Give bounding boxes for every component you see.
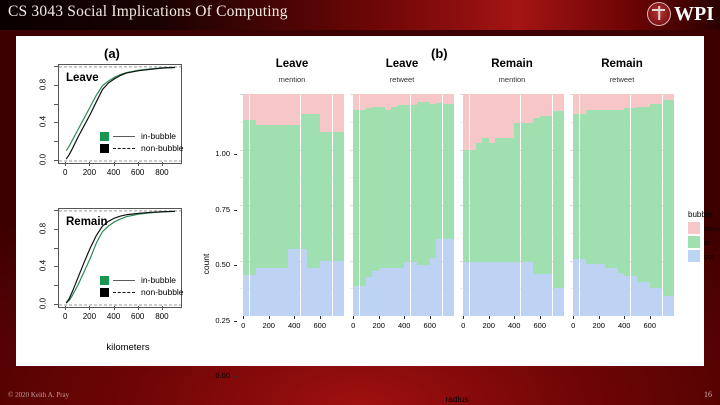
bar-segment-in — [423, 102, 429, 265]
bar-segment-out — [546, 274, 552, 316]
x-tick-mark — [269, 316, 270, 319]
footer-copyright: © 2020 Keith A. Pray — [8, 391, 69, 399]
non-bubble-line-icon — [113, 292, 135, 293]
stacked-bar — [463, 94, 469, 316]
bar-segment-cross — [385, 94, 391, 110]
legend-item-out: out — [688, 250, 720, 262]
bar-segment-cross — [417, 94, 423, 102]
y-tick-mark — [54, 304, 58, 305]
in-bubble-line-icon — [113, 136, 135, 137]
x-tick-label: 200 — [77, 312, 101, 321]
bar-segment-cross — [372, 94, 378, 107]
stacked-bar — [250, 94, 256, 316]
stacked-bar — [470, 94, 476, 316]
x-tick-label: 800 — [150, 312, 174, 321]
bar-segment-in — [624, 108, 630, 276]
bar-segment-out — [599, 264, 605, 316]
x-tick-mark — [89, 306, 90, 310]
ecdf-legend: in-bubble non-bubble — [100, 130, 184, 154]
slide-root: CS 3043 Social Implications Of Computing… — [0, 0, 720, 405]
bar-segment-in — [360, 110, 366, 286]
stacked-bar — [339, 94, 344, 316]
bar-segment-out — [495, 262, 501, 316]
bar-segment-in — [470, 150, 476, 262]
bar-segment-cross — [288, 94, 294, 125]
stacked-bar — [443, 94, 449, 316]
stacked-bar — [449, 94, 454, 316]
bar-segment-in — [313, 114, 319, 268]
bar-segment-out — [559, 288, 564, 316]
bar-segment-out — [463, 262, 469, 316]
x-tick-label: 400 — [282, 321, 306, 330]
stacked-bar — [366, 94, 372, 316]
legend-row-non-bubble: non-bubble — [100, 142, 184, 154]
slide-number: 16 — [704, 390, 712, 399]
bar-segment-in — [476, 143, 482, 262]
bar-segment-in — [250, 120, 256, 275]
bar-segment-out — [436, 239, 442, 316]
stacked-bar — [611, 94, 617, 316]
bar-segment-out — [573, 259, 579, 316]
bar-segment-out — [398, 268, 404, 316]
facet-title: Remain — [570, 58, 674, 70]
stacked-bar — [313, 94, 319, 316]
non-bubble-swatch — [100, 144, 109, 153]
y-tick-mark-minor — [54, 104, 58, 105]
bar-segment-cross — [294, 94, 300, 125]
bar-segment-in — [521, 123, 527, 262]
stacked-bar — [436, 94, 442, 316]
x-tick-label: 0 — [53, 312, 77, 321]
bar-segment-in — [333, 132, 339, 261]
facet-plot-area — [460, 94, 564, 316]
bar-segment-cross — [275, 94, 281, 125]
stacked-bar — [489, 94, 495, 316]
stacked-bar — [256, 94, 262, 316]
bar-segment-in — [398, 105, 404, 268]
stacked-bar — [540, 94, 546, 316]
ecdf-legend: in-bubble non-bubble — [100, 274, 184, 298]
figure-canvas: (a) Leave0.00.40.80200400600800 in-bubbl… — [16, 36, 704, 366]
x-tick-mark — [114, 306, 115, 310]
non-bubble-line-icon — [113, 148, 135, 149]
stacked-bar — [379, 94, 385, 316]
x-tick-label: 400 — [612, 321, 636, 330]
bar-segment-cross — [580, 94, 586, 114]
in-bubble-line-icon — [113, 280, 135, 281]
facet-remain-mention: Remainmention0200400600 — [460, 36, 564, 338]
legend-title: bubble — [688, 210, 720, 219]
bar-segment-cross — [320, 94, 326, 132]
stacked-bar — [353, 94, 359, 316]
stacked-bar — [417, 94, 423, 316]
bar-segment-cross — [656, 94, 662, 104]
legend-label-non-bubble: non-bubble — [141, 287, 184, 297]
bar-segment-in — [430, 104, 436, 258]
x-tick-label: 600 — [638, 321, 662, 330]
bar-segment-out — [508, 262, 514, 316]
legend-label-non-bubble: non-bubble — [141, 143, 184, 153]
bar-segment-cross — [624, 94, 630, 108]
bar-segment-out — [372, 271, 378, 317]
bar-segment-cross — [521, 94, 527, 123]
bar-segment-out — [592, 264, 598, 316]
bar-segment-out — [514, 262, 520, 316]
facet-title: Leave — [350, 58, 454, 70]
legend-row-in-bubble: in-bubble — [100, 130, 184, 142]
bar-segment-in — [404, 105, 410, 262]
bar-segment-in — [586, 110, 592, 264]
bar-segment-out — [379, 268, 385, 316]
facet-subtitle: retweet — [350, 75, 454, 84]
bar-segment-in — [501, 138, 507, 261]
bar-segment-cross — [391, 94, 397, 107]
bar-segment-out — [521, 262, 527, 316]
y-tick-mark — [234, 210, 237, 211]
x-tick-label: 200 — [367, 321, 391, 330]
bar-segment-cross — [586, 94, 592, 110]
stacked-bar — [521, 94, 527, 316]
x-tick-label: 400 — [392, 321, 416, 330]
bar-segment-out — [656, 288, 662, 316]
y-tick-mark-minor — [54, 66, 58, 67]
bar-segment-cross — [514, 94, 520, 123]
bar-segment-in — [463, 150, 469, 262]
stacked-bar — [372, 94, 378, 316]
x-tick-label: 0 — [231, 321, 255, 330]
bar-segment-out — [391, 268, 397, 316]
legend-item-cross: cross — [688, 222, 720, 234]
bar-segment-out — [553, 288, 559, 316]
facet-remain-retweet: Remainretweet0200400600 — [570, 36, 674, 338]
x-tick-mark — [624, 316, 625, 319]
x-tick-mark — [650, 316, 651, 319]
bar-segment-in — [391, 107, 397, 268]
bar-segment-in — [281, 125, 287, 268]
bar-segment-out — [320, 261, 326, 317]
x-tick-label: 0 — [451, 321, 475, 330]
facet-plot-area — [240, 94, 344, 316]
bar-segment-in — [559, 111, 564, 289]
y-tick-label: 0.0 — [39, 293, 48, 315]
legend-swatch-out — [688, 250, 700, 262]
bar-segment-out — [326, 261, 332, 317]
bar-segment-cross — [663, 94, 669, 100]
bar-segment-cross — [527, 94, 533, 123]
stacked-bar — [669, 94, 674, 316]
x-tick-mark — [65, 162, 66, 166]
bar-segment-out — [307, 268, 313, 316]
bar-segment-in — [650, 104, 656, 288]
bar-segment-in — [527, 123, 533, 262]
bar-segment-out — [637, 282, 643, 316]
y-tick-label: 0.0 — [39, 149, 48, 171]
bar-segment-in — [495, 138, 501, 261]
stacked-bar — [501, 94, 507, 316]
y-tick-label: 0.00 — [206, 371, 230, 380]
stacked-bar — [294, 94, 300, 316]
stacked-bar — [508, 94, 514, 316]
bar-segment-in — [580, 114, 586, 259]
ecdf-subplot-leave: Leave0.00.40.80200400600800 in-bubble no… — [16, 64, 216, 194]
x-tick-label: 400 — [102, 168, 126, 177]
bar-segment-out — [417, 265, 423, 316]
y-tick-label: 1.00 — [206, 149, 230, 158]
bar-segment-out — [580, 259, 586, 316]
legend-label-in-bubble: in-bubble — [141, 275, 176, 285]
bar-segment-cross — [559, 94, 564, 111]
y-tick-label: 0.8 — [39, 217, 48, 239]
stacked-bar — [586, 94, 592, 316]
x-tick-mark — [404, 316, 405, 319]
bar-segment-out — [611, 268, 617, 316]
bar-segment-out — [333, 261, 339, 317]
bar-segment-in — [553, 111, 559, 289]
bar-segment-cross — [256, 94, 262, 125]
x-tick-mark — [599, 316, 600, 319]
bar-segment-cross — [449, 94, 454, 104]
stacked-bar — [360, 94, 366, 316]
stacked-bar — [326, 94, 332, 316]
y-tick-mark — [234, 376, 237, 377]
bar-segment-cross — [301, 94, 307, 114]
x-tick-mark — [138, 162, 139, 166]
bar-segment-cross — [508, 94, 514, 138]
x-tick-label: 600 — [126, 168, 150, 177]
bar-segment-in — [256, 125, 262, 268]
legend-label-in: in — [704, 238, 710, 247]
bar-segment-cross — [605, 94, 611, 110]
bar-segment-cross — [592, 94, 598, 110]
x-tick-mark — [430, 316, 431, 319]
x-tick-label: 400 — [102, 312, 126, 321]
x-tick-label: 0 — [561, 321, 585, 330]
legend-label-cross: cross — [704, 224, 720, 233]
bar-segment-out — [586, 264, 592, 316]
x-tick-mark — [162, 162, 163, 166]
bar-segment-in — [546, 116, 552, 274]
stacked-bar — [385, 94, 391, 316]
bar-segment-out — [624, 276, 630, 316]
bar-segment-cross — [353, 94, 359, 110]
bar-segment-cross — [436, 94, 442, 103]
page-title: CS 3043 Social Implications Of Computing — [8, 3, 288, 21]
stacked-bar — [599, 94, 605, 316]
stacked-bar — [430, 94, 436, 316]
x-tick-label: 200 — [477, 321, 501, 330]
bar-segment-cross — [398, 94, 404, 105]
bar-segment-cross — [495, 94, 501, 138]
stacked-bar — [624, 94, 630, 316]
bar-segment-in — [663, 100, 669, 296]
x-tick-label: 200 — [257, 321, 281, 330]
legend-row-non-bubble: non-bubble — [100, 286, 184, 298]
bubble-legend: bubble cross in out — [688, 210, 720, 264]
y-tick-mark-minor — [54, 248, 58, 249]
legend-items: cross in out — [688, 222, 720, 262]
y-tick-mark — [234, 321, 237, 322]
stacked-bar — [533, 94, 539, 316]
bar-segment-out — [663, 296, 669, 316]
bar-segment-cross — [313, 94, 319, 114]
x-tick-mark — [573, 316, 574, 319]
x-tick-label: 600 — [528, 321, 552, 330]
stacked-bar — [482, 94, 488, 316]
in-bubble-swatch — [100, 276, 109, 285]
bar-segment-out — [540, 274, 546, 316]
bar-segment-in — [443, 104, 449, 239]
bar-segment-in — [514, 123, 520, 262]
stacked-bar — [650, 94, 656, 316]
bar-segment-cross — [360, 94, 366, 110]
facet-leave-mention: Leavemention0200400600 — [240, 36, 344, 338]
bar-segment-out — [489, 262, 495, 316]
slide-title-bar: CS 3043 Social Implications Of Computing… — [0, 0, 720, 31]
stacked-bar — [605, 94, 611, 316]
stacked-bar — [514, 94, 520, 316]
bar-segment-cross — [546, 94, 552, 116]
bar-segment-in — [411, 105, 417, 262]
y-tick-mark — [54, 266, 58, 267]
stacked-bar — [592, 94, 598, 316]
bar-segment-cross — [470, 94, 476, 150]
x-tick-label: 200 — [587, 321, 611, 330]
bar-segment-out — [313, 268, 319, 316]
stacked-bar — [320, 94, 326, 316]
x-tick-label: 800 — [150, 168, 174, 177]
stacked-bar — [269, 94, 275, 316]
bar-segment-out — [533, 274, 539, 316]
y-tick-label: 0.4 — [39, 255, 48, 277]
stacked-bar — [631, 94, 637, 316]
bar-segment-out — [256, 268, 262, 316]
bar-segment-in — [288, 125, 294, 249]
bar-segment-out — [269, 268, 275, 316]
stacked-bar — [333, 94, 339, 316]
x-tick-mark — [65, 306, 66, 310]
bar-segment-cross — [611, 94, 617, 110]
y-tick-mark-minor — [54, 285, 58, 286]
x-tick-label: 0 — [53, 168, 77, 177]
bar-segment-in — [326, 132, 332, 261]
bar-segment-cross — [631, 94, 637, 108]
bar-segment-cross — [573, 94, 579, 114]
stacked-bar — [643, 94, 649, 316]
ecdf-subplot-remain: Remain0.00.40.80200400600800 in-bubble n… — [16, 208, 216, 338]
bar-segment-cross — [489, 94, 495, 143]
y-tick-mark — [54, 229, 58, 230]
bar-segment-cross — [379, 94, 385, 107]
bar-segment-cross — [553, 94, 559, 111]
bar-segment-in — [508, 138, 514, 261]
x-tick-mark — [162, 306, 163, 310]
y-tick-mark-minor — [54, 141, 58, 142]
bar-segment-in — [643, 107, 649, 281]
stacked-bar — [553, 94, 559, 316]
bar-segment-cross — [669, 94, 674, 100]
x-tick-mark — [243, 316, 244, 319]
bar-segment-in — [489, 143, 495, 262]
x-tick-mark — [540, 316, 541, 319]
y-tick-mark — [234, 265, 237, 266]
facet-leave-retweet: Leaveretweet0200400600 — [350, 36, 454, 338]
y-tick-mark-minor — [54, 210, 58, 211]
bar-segment-out — [366, 277, 372, 316]
stacked-bar — [476, 94, 482, 316]
bar-segment-in — [631, 108, 637, 276]
bar-segment-in — [611, 110, 617, 269]
bar-segment-in — [637, 107, 643, 281]
bar-segment-cross — [333, 94, 339, 132]
bar-segment-out — [288, 249, 294, 316]
bar-segment-cross — [411, 94, 417, 105]
stacked-bar — [663, 94, 669, 316]
stacked-bar — [391, 94, 397, 316]
bar-segment-cross — [463, 94, 469, 150]
bar-segment-in — [353, 110, 359, 286]
bar-segment-cross — [533, 94, 539, 118]
y-tick-mark — [54, 85, 58, 86]
panel-b: (b) Leavemention0200400600Leaveretweet02… — [194, 36, 704, 366]
stacked-bar — [288, 94, 294, 316]
x-tick-label: 600 — [308, 321, 332, 330]
bar-segment-in — [301, 114, 307, 249]
bar-segment-cross — [482, 94, 488, 138]
bar-segment-in — [592, 110, 598, 264]
y-tick-label: 0.75 — [206, 205, 230, 214]
wpi-seal-icon — [647, 2, 671, 26]
bar-segment-cross — [643, 94, 649, 107]
panel-b-yaxis: 0.000.250.500.751.00 — [194, 36, 240, 366]
bar-segment-cross — [650, 94, 656, 104]
x-tick-mark — [89, 162, 90, 166]
stacked-bar — [281, 94, 287, 316]
bar-segment-cross — [501, 94, 507, 138]
bar-segment-out — [501, 262, 507, 316]
bar-segment-in — [436, 103, 442, 240]
bar-segment-cross — [250, 94, 256, 120]
bar-segment-cross — [339, 94, 344, 132]
x-tick-mark — [514, 316, 515, 319]
stacked-bar — [656, 94, 662, 316]
facet-subtitle: retweet — [570, 75, 674, 84]
x-tick-mark — [138, 306, 139, 310]
bar-segment-cross — [243, 94, 249, 120]
bar-segment-in — [262, 125, 268, 268]
facet-title: Leave — [240, 58, 344, 70]
x-tick-mark — [489, 316, 490, 319]
stacked-bar — [573, 94, 579, 316]
bar-segment-cross — [404, 94, 410, 105]
panel-b-xlabel: radius — [240, 394, 674, 404]
bar-segment-out — [476, 262, 482, 316]
bar-segment-in — [540, 116, 546, 274]
stacked-bar — [275, 94, 281, 316]
legend-swatch-cross — [688, 222, 700, 234]
bar-segment-out — [353, 286, 359, 316]
bar-segment-out — [605, 268, 611, 316]
x-tick-mark — [320, 316, 321, 319]
subplot-title: Leave — [66, 72, 99, 84]
wpi-wordmark: WPI — [674, 3, 714, 25]
bar-segment-out — [430, 258, 436, 316]
x-tick-mark — [463, 316, 464, 319]
x-tick-label: 400 — [502, 321, 526, 330]
bar-segment-out — [360, 286, 366, 316]
bar-segment-in — [294, 125, 300, 249]
bar-segment-cross — [262, 94, 268, 125]
bar-segment-in — [449, 104, 454, 239]
